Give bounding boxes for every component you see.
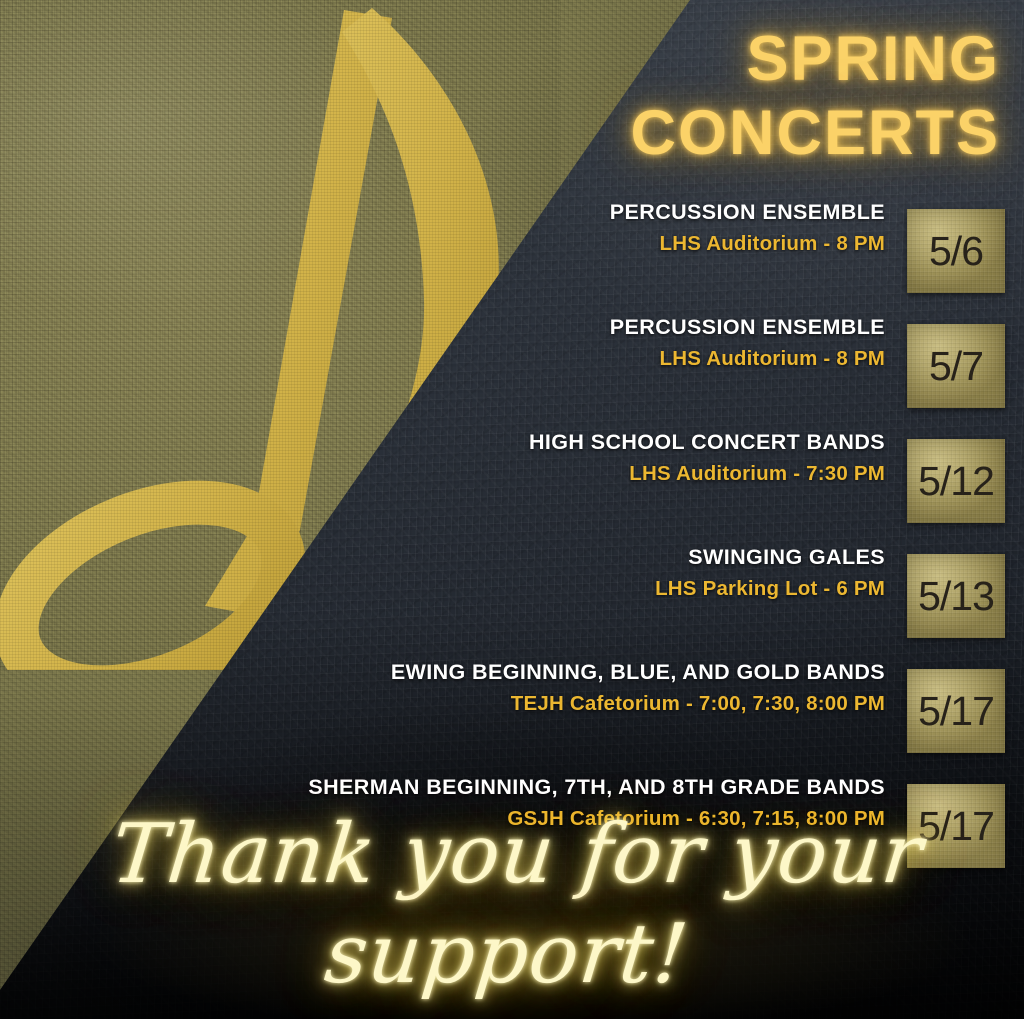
event-title: PERCUSSION ENSEMBLE bbox=[125, 198, 885, 226]
event-row: EWING BEGINNING, BLUE, AND GOLD BANDS TE… bbox=[0, 658, 1024, 773]
date-badge-text: 5/17 bbox=[918, 691, 994, 732]
date-badge: 5/13 bbox=[907, 554, 1005, 638]
date-badge: 5/7 bbox=[907, 324, 1005, 408]
event-venue: LHS Auditorium - 8 PM bbox=[125, 345, 885, 373]
date-badge-text: 5/12 bbox=[918, 461, 994, 502]
event-row: SWINGING GALES LHS Parking Lot - 6 PM 5/… bbox=[0, 543, 1024, 658]
event-title: SWINGING GALES bbox=[125, 543, 885, 571]
title-line-1: SPRING bbox=[440, 22, 1000, 96]
event-venue: LHS Parking Lot - 6 PM bbox=[125, 575, 885, 603]
event-text-block: PERCUSSION ENSEMBLE LHS Auditorium - 8 P… bbox=[125, 313, 885, 373]
date-badge: 5/6 bbox=[907, 209, 1005, 293]
date-badge-text: 5/6 bbox=[929, 231, 983, 272]
event-venue: LHS Auditorium - 8 PM bbox=[125, 230, 885, 258]
footer-script-text: Thank you for your support! bbox=[0, 805, 1024, 1005]
date-badge: 5/17 bbox=[907, 669, 1005, 753]
event-row: HIGH SCHOOL CONCERT BANDS LHS Auditorium… bbox=[0, 428, 1024, 543]
event-row: PERCUSSION ENSEMBLE LHS Auditorium - 8 P… bbox=[0, 198, 1024, 313]
date-badge-text: 5/7 bbox=[929, 346, 983, 387]
event-text-block: HIGH SCHOOL CONCERT BANDS LHS Auditorium… bbox=[125, 428, 885, 488]
event-text-block: EWING BEGINNING, BLUE, AND GOLD BANDS TE… bbox=[125, 658, 885, 718]
date-badge-text: 5/13 bbox=[918, 576, 994, 617]
event-venue: LHS Auditorium - 7:30 PM bbox=[125, 460, 885, 488]
event-text-block: SWINGING GALES LHS Parking Lot - 6 PM bbox=[125, 543, 885, 603]
concert-poster: SPRING CONCERTS PERCUSSION ENSEMBLE LHS … bbox=[0, 0, 1024, 1019]
event-title: EWING BEGINNING, BLUE, AND GOLD BANDS bbox=[125, 658, 885, 686]
event-title: SHERMAN BEGINNING, 7TH, AND 8TH GRADE BA… bbox=[125, 773, 885, 801]
event-list: PERCUSSION ENSEMBLE LHS Auditorium - 8 P… bbox=[0, 198, 1024, 888]
event-row: PERCUSSION ENSEMBLE LHS Auditorium - 8 P… bbox=[0, 313, 1024, 428]
event-text-block: PERCUSSION ENSEMBLE LHS Auditorium - 8 P… bbox=[125, 198, 885, 258]
event-venue: TEJH Cafetorium - 7:00, 7:30, 8:00 PM bbox=[125, 690, 885, 718]
poster-title: SPRING CONCERTS bbox=[440, 22, 1000, 170]
event-title: PERCUSSION ENSEMBLE bbox=[125, 313, 885, 341]
footer-message: Thank you for your support! bbox=[0, 805, 1024, 1005]
event-title: HIGH SCHOOL CONCERT BANDS bbox=[125, 428, 885, 456]
title-line-2: CONCERTS bbox=[440, 96, 1000, 170]
date-badge: 5/12 bbox=[907, 439, 1005, 523]
